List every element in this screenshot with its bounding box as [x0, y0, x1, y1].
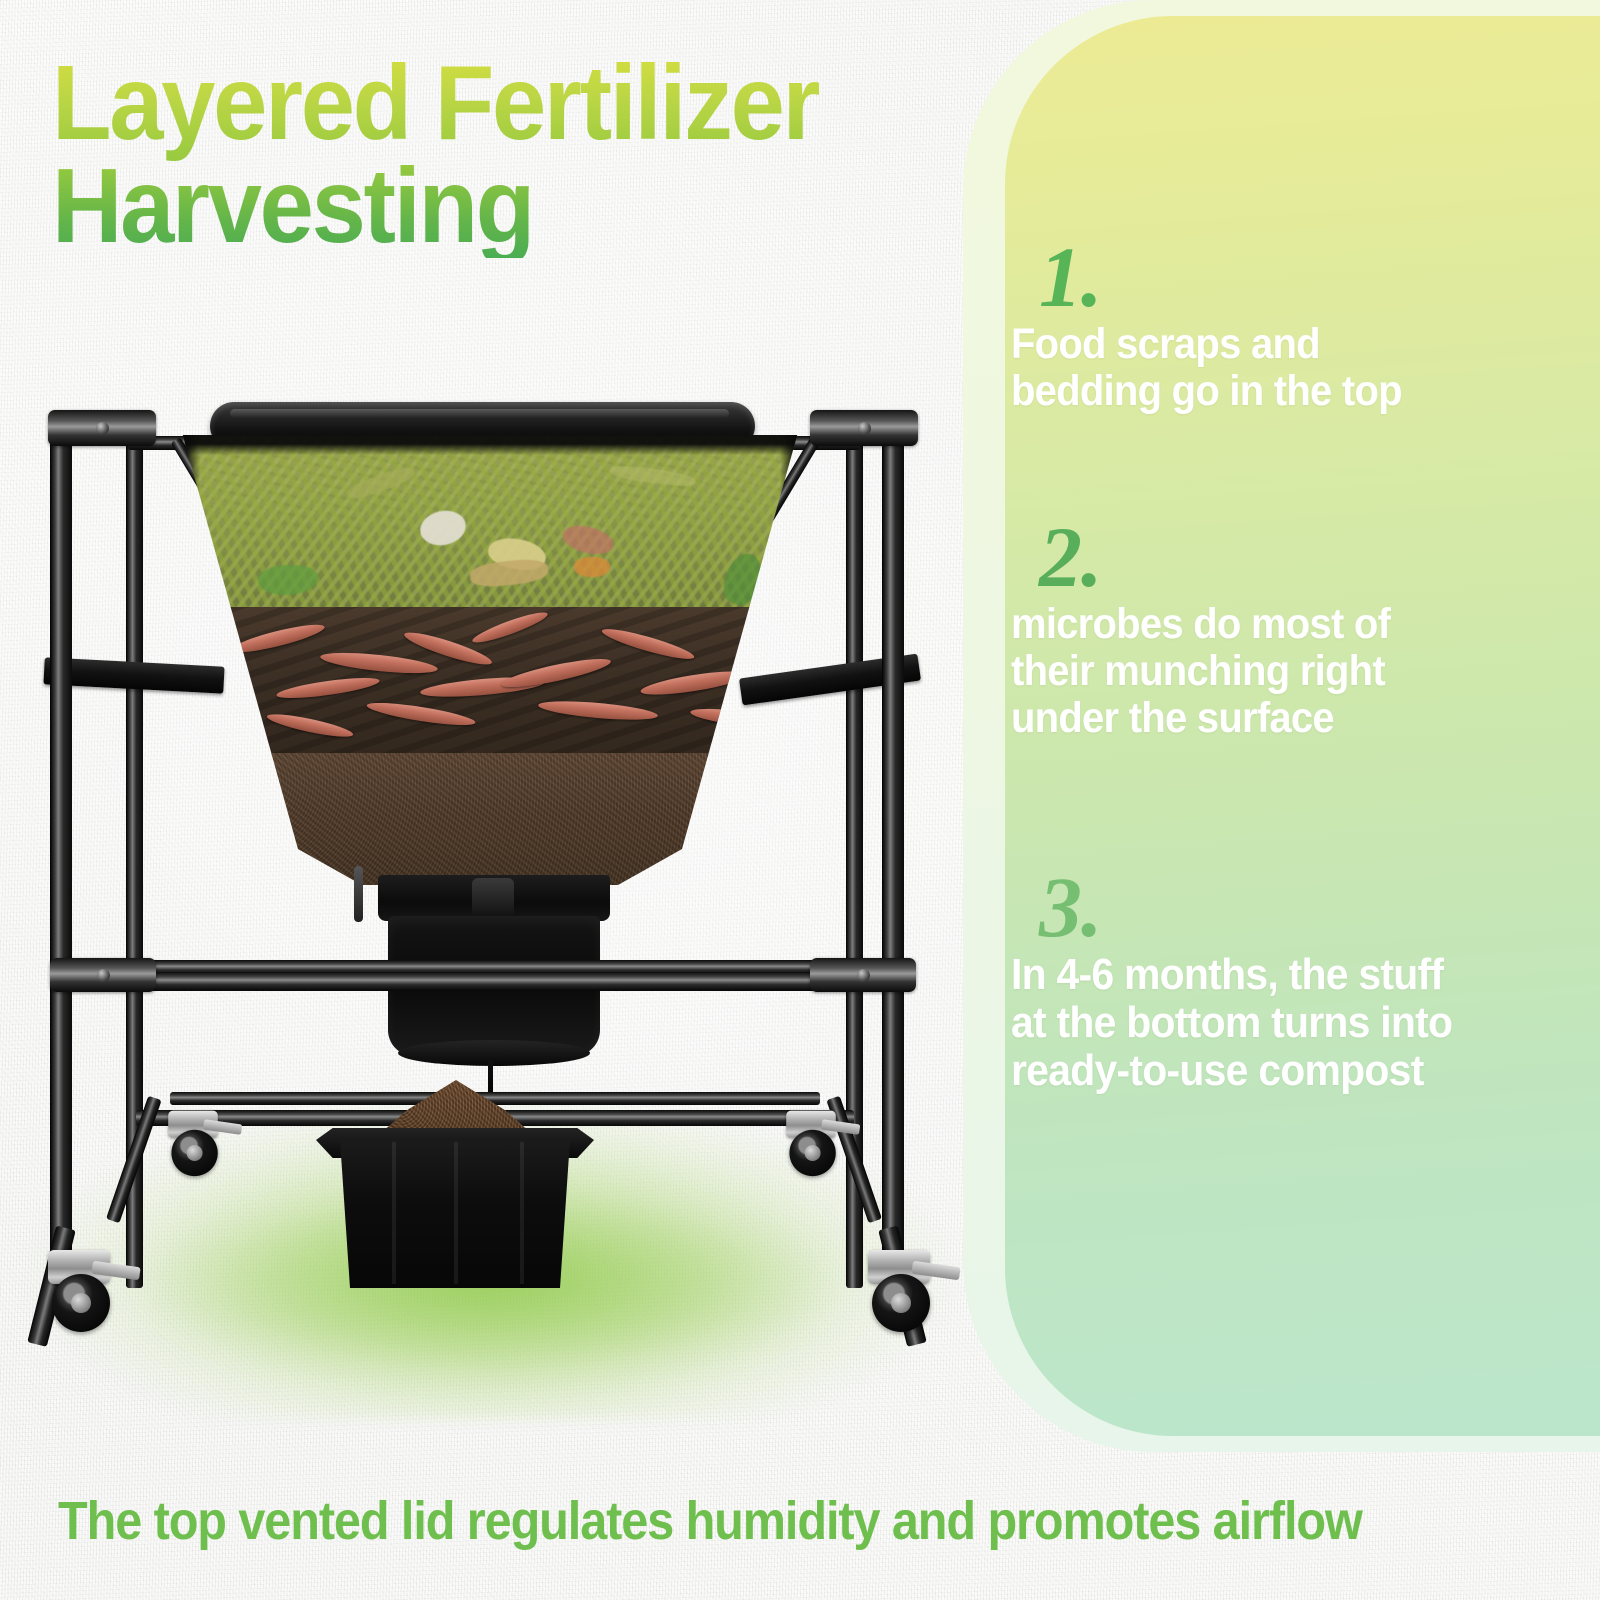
steps-list: 1. Food scraps and bedding go in the top… [1005, 0, 1600, 1452]
layer-food-scraps [170, 435, 810, 610]
product-photo-worm-composter [20, 380, 970, 1430]
caster-wheel [789, 1130, 835, 1176]
caster-front-right [860, 1250, 938, 1336]
frame-upright-front-right [882, 418, 904, 1258]
corner-joint-top-left [48, 410, 156, 446]
tray-fold-left [392, 1142, 396, 1284]
scrap-bits [170, 435, 810, 610]
step-item-1: 1. Food scraps and bedding go in the top [1005, 238, 1565, 415]
step-item-3: 3. In 4-6 months, the stuff at the botto… [1005, 868, 1565, 1095]
bottom-caption: The top vented lid regulates humidity an… [58, 1494, 1336, 1548]
step-item-2: 2. microbes do most of their munching ri… [1005, 518, 1565, 742]
funnel-cinch-ring [398, 1040, 590, 1066]
layer-finished-compost [170, 753, 810, 885]
layer-worm-zone [170, 607, 810, 757]
infographic-canvas: Layered Fertilizer Harvesting 1. Food sc… [0, 0, 1600, 1600]
frame-upright-front-left [50, 418, 72, 1258]
tray-fold-right [520, 1142, 524, 1284]
tray-fold-center [454, 1142, 458, 1284]
mid-joint-left [50, 958, 156, 992]
step-number-3: 3. [1039, 868, 1565, 947]
step-text-1: Food scraps and bedding go in the top [1011, 321, 1526, 415]
step-number-2: 2. [1039, 518, 1565, 597]
corner-joint-top-right [810, 410, 918, 446]
step-text-2: microbes do most of their munching right… [1011, 601, 1526, 742]
caster-front-left [40, 1250, 118, 1336]
neck-buckle [472, 878, 514, 918]
frame-rail-mid-front [52, 972, 904, 991]
funnel-compost-bag [170, 435, 810, 885]
caster-back-right [780, 1111, 842, 1180]
bag-zipper [354, 866, 363, 922]
mid-joint-right [810, 958, 916, 992]
step-number-1: 1. [1039, 238, 1565, 317]
caster-back-left [162, 1111, 224, 1180]
caster-wheel [52, 1274, 110, 1332]
page-title: Layered Fertilizer Harvesting [52, 52, 880, 258]
step-text-3: In 4-6 months, the stuff at the bottom t… [1011, 951, 1526, 1095]
caster-wheel [171, 1130, 217, 1176]
caster-wheel [872, 1274, 930, 1332]
frame-rail-bottom-back [170, 1092, 820, 1105]
